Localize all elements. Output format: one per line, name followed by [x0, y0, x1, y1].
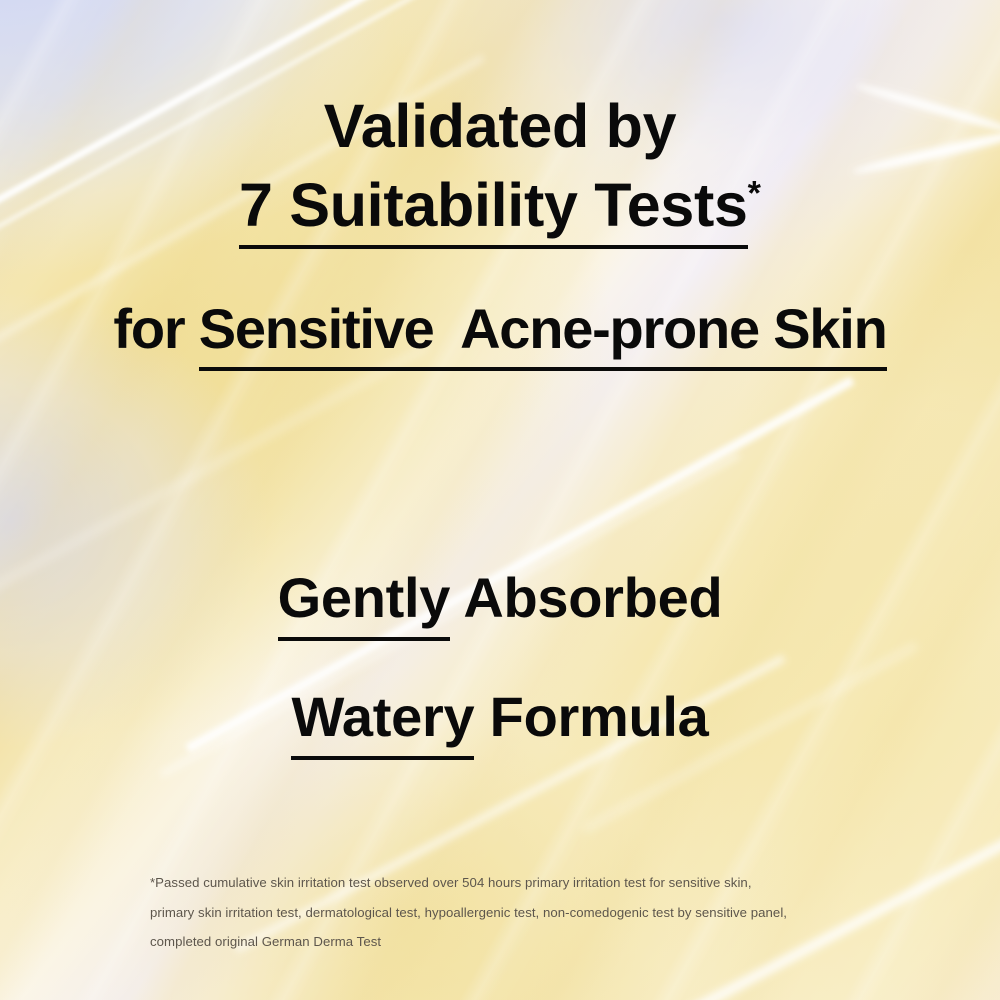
- footnote-line-1: *Passed cumulative skin irritation test …: [150, 868, 880, 898]
- headline-line-gently-absorbed: Gently Absorbed: [0, 570, 1000, 641]
- headline-line-validated-by: Validated by: [0, 96, 1000, 157]
- footnote-asterisk-marker: *: [748, 175, 761, 213]
- gloss-streak-4: [0, 344, 429, 600]
- headline-text-absorbed: Absorbed: [450, 566, 722, 629]
- headline-line-suitability-tests: 7 Suitability Tests*: [0, 175, 1000, 249]
- footnote-line-3: completed original German Derma Test: [150, 927, 880, 957]
- headline-underlined-sensitive-acne-prone-skin: Sensitive Acne-prone Skin: [199, 301, 887, 371]
- headline-underlined-watery: Watery: [291, 689, 474, 760]
- headline-underlined-gently: Gently: [278, 570, 451, 641]
- headline-prefix-for: for: [113, 297, 198, 360]
- headline-line-sensitive-acne-prone-skin: for Sensitive Acne-prone Skin: [0, 301, 1000, 371]
- headline-underlined-suitability-tests: 7 Suitability Tests: [239, 175, 748, 249]
- footnote-disclaimer: *Passed cumulative skin irritation test …: [150, 868, 880, 957]
- footnote-line-2: primary skin irritation test, dermatolog…: [150, 898, 880, 928]
- headline-group-top: Validated by 7 Suitability Tests* for Se…: [0, 96, 1000, 371]
- headline-group-bottom: Gently Absorbed Watery Formula: [0, 570, 1000, 760]
- marketing-poster: Validated by 7 Suitability Tests* for Se…: [0, 0, 1000, 1000]
- headline-text-formula: Formula: [474, 685, 708, 748]
- headline-line-watery-formula: Watery Formula: [0, 689, 1000, 760]
